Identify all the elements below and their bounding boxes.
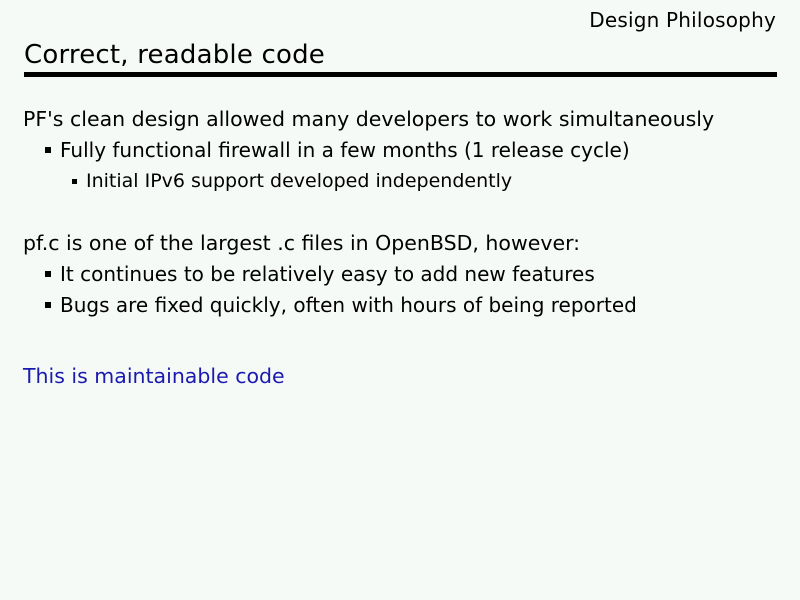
slide-kicker: Design Philosophy <box>589 8 776 32</box>
bullet-line-text: Bugs are fixed quickly, often with hours… <box>60 293 637 317</box>
square-bullet-icon <box>45 271 51 277</box>
bullet-line: Initial IPv6 support developed independe… <box>86 166 800 197</box>
closing-statement: This is maintainable code <box>23 363 285 389</box>
bullet-line-text: It continues to be relatively easy to ad… <box>60 262 595 286</box>
title-divider <box>24 72 777 77</box>
slide-title: Correct, readable code <box>24 40 325 70</box>
bullet-line: PF's clean design allowed many developer… <box>23 104 800 135</box>
bullet-line-text: Fully functional firewall in a few month… <box>60 138 630 162</box>
square-bullet-icon <box>45 302 51 308</box>
bullet-line: Bugs are fixed quickly, often with hours… <box>60 290 800 321</box>
slide-body: PF's clean design allowed many developer… <box>0 104 800 321</box>
bullet-line: pf.c is one of the largest .c files in O… <box>23 228 800 259</box>
bullet-group: pf.c is one of the largest .c files in O… <box>0 228 800 321</box>
square-bullet-icon <box>72 179 77 184</box>
slide: Design Philosophy Correct, readable code… <box>0 0 800 600</box>
square-bullet-icon <box>45 147 51 153</box>
bullet-line: It continues to be relatively easy to ad… <box>60 259 800 290</box>
bullet-group: PF's clean design allowed many developer… <box>0 104 800 197</box>
bullet-line-text: Initial IPv6 support developed independe… <box>86 170 512 192</box>
bullet-line: Fully functional firewall in a few month… <box>60 135 800 166</box>
